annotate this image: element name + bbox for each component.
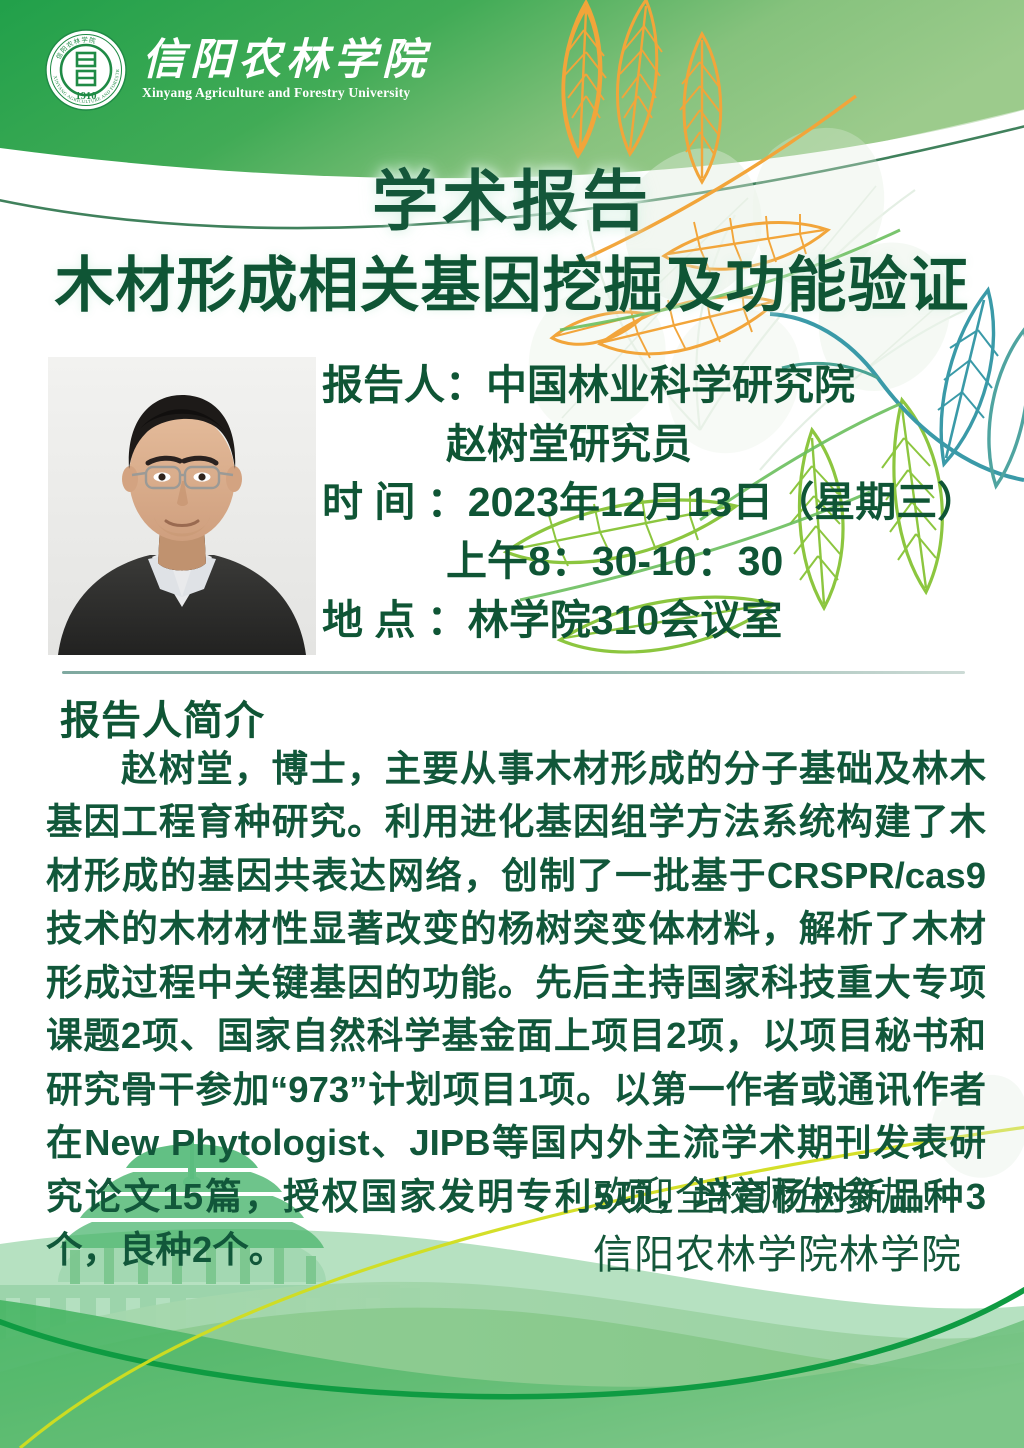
wave-layer-3 [0,1300,1024,1448]
event-detail-row: 时 间 ：2023年12月13日（星期三） [322,473,1022,532]
welcome-line: 欢迎全校师生参加! [593,1168,962,1226]
section-divider [62,671,965,674]
event-detail-row: 报告人：中国林业科学研究院 [322,356,1022,415]
page-title: 学术报告 [0,165,1024,238]
event-time: 上午8：30-10：30 [446,538,783,584]
speaker-portrait [48,357,316,655]
dark-green-swoosh [0,1284,1024,1397]
university-name-en: Xinyang Agriculture and Forestry Univers… [142,85,430,101]
event-detail-row: 赵树堂研究员 [322,415,1022,474]
university-logo: 1910 信阳农林学院 XINYANG AGRICULTURE AND FORE… [44,28,430,112]
organizer-line: 信阳农林学院林学院 [593,1226,962,1284]
wave-layer-1 [0,1282,1024,1448]
time-label: 时 间 ： [322,473,468,532]
event-date: 2023年12月13日（星期三） [468,479,978,525]
bio-heading: 报告人简介 [60,688,265,746]
event-details: 报告人：中国林业科学研究院 赵树堂研究员 时 间 ：2023年12月13日（星期… [322,356,1022,649]
university-name-block: 信阳农林学院 Xinyang Agriculture and Forestry … [142,39,430,102]
location-label: 地 点 ： [322,591,468,650]
wave-layer-2 [0,1308,1024,1448]
footer-notice: 欢迎全校师生参加! 信阳农林学院林学院 [593,1168,962,1285]
title-block: 学术报告 木材形成相关基因挖掘及功能验证 [0,165,1024,319]
university-seal-icon: 1910 信阳农林学院 XINYANG AGRICULTURE AND FORE… [44,28,128,112]
speaker-name: 赵树堂研究员 [446,421,692,467]
event-location: 林学院310会议室 [468,597,782,643]
poster-header: 1910 信阳农林学院 XINYANG AGRICULTURE AND FORE… [0,0,1024,185]
page-subtitle: 木材形成相关基因挖掘及功能验证 [0,252,1024,319]
speaker-label: 报告人： [322,356,486,415]
university-name-cn: 信阳农林学院 [142,39,430,84]
event-detail-row: 上午8：30-10：30 [322,532,1022,591]
event-detail-row: 地 点 ：林学院310会议室 [322,591,1022,650]
speaker-affiliation: 中国林业科学研究院 [486,362,855,408]
